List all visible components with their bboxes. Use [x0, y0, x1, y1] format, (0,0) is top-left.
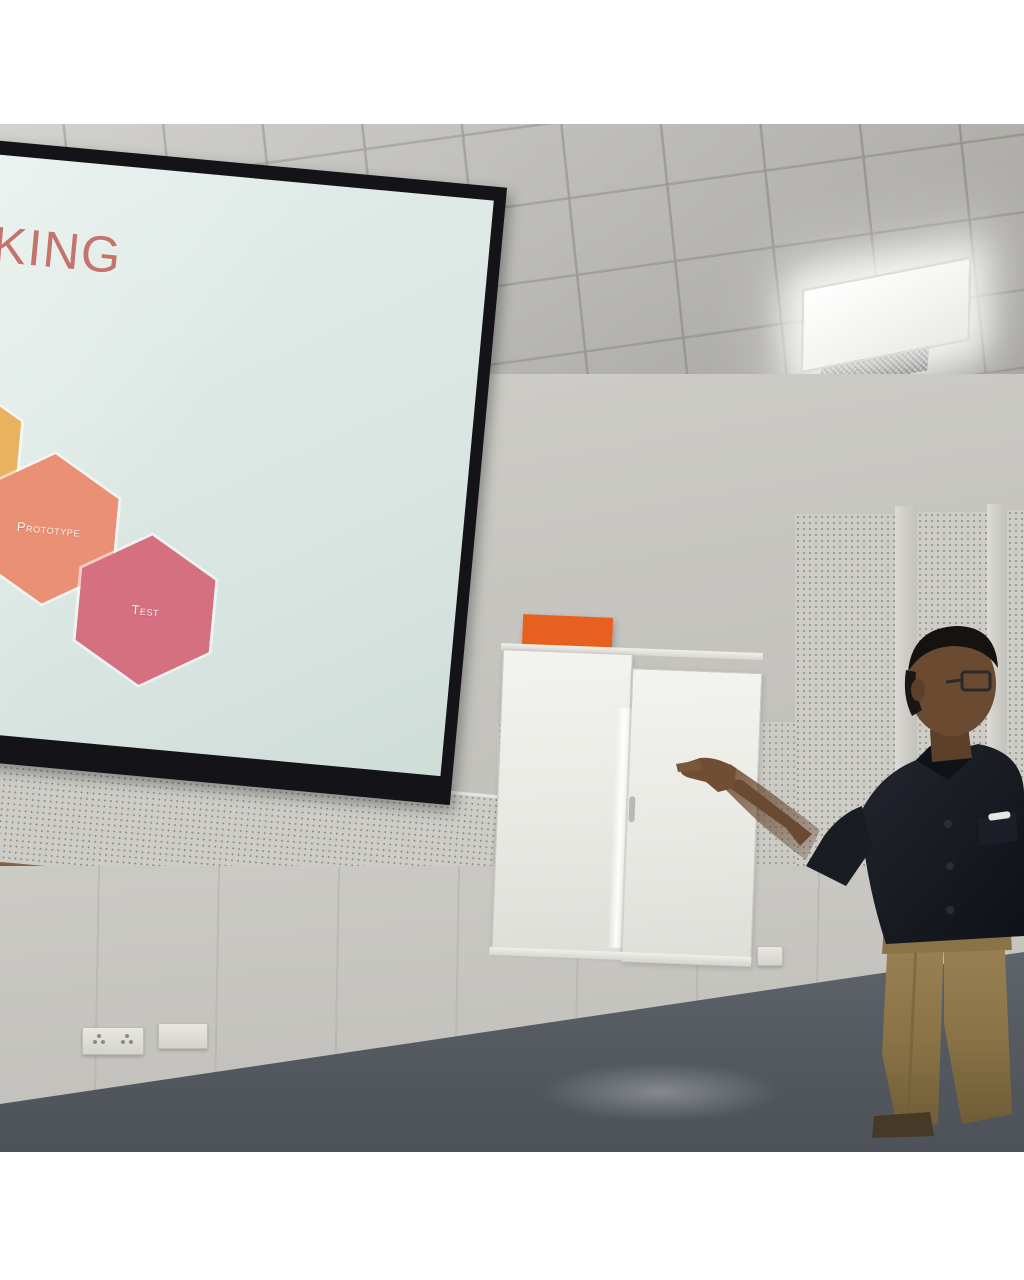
- screen-border: GN THINKING zeDefineIdeatePrototypeTest: [0, 124, 507, 805]
- classroom-photo: GN THINKING zeDefineIdeatePrototypeTest: [0, 124, 1024, 1152]
- hexagon-label: Test: [131, 601, 160, 619]
- whiteboard-handle[interactable]: [628, 796, 635, 822]
- floor-reflection: [540, 1062, 780, 1122]
- letterbox-bottom: [0, 1152, 1024, 1280]
- whiteboard-assembly[interactable]: [489, 643, 761, 973]
- design-thinking-hexagons: zeDefineIdeatePrototypeTest: [0, 345, 422, 768]
- letterbox-top: [0, 0, 1024, 124]
- photo-frame: GN THINKING zeDefineIdeatePrototypeTest: [0, 0, 1024, 1280]
- classroom-floor: [0, 952, 1024, 1152]
- hexagon-label: Prototype: [16, 518, 81, 539]
- floor-surface: [0, 952, 1024, 1152]
- whiteboard-panel-right[interactable]: [621, 668, 762, 967]
- screen-surface: GN THINKING zeDefineIdeatePrototypeTest: [0, 138, 494, 776]
- projection-screen[interactable]: GN THINKING zeDefineIdeatePrototypeTest: [0, 124, 517, 826]
